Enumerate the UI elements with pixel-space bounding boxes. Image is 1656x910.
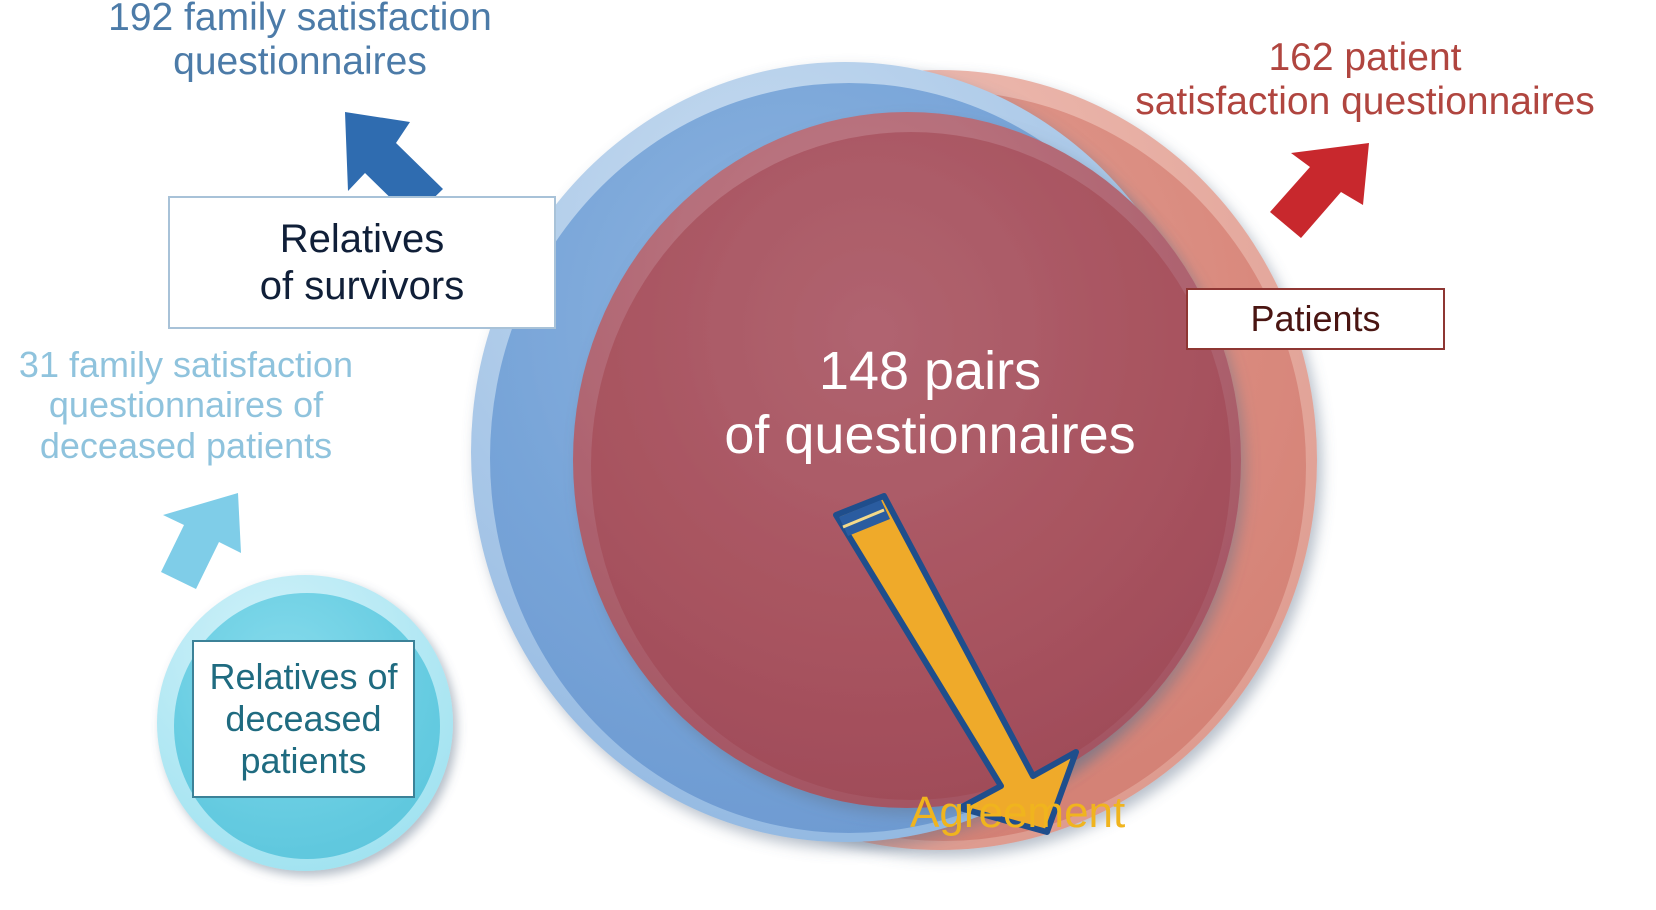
annotation-patient-162: 162 patient satisfaction questionnaires: [1070, 36, 1656, 123]
arrow-to-family-31-icon: [161, 493, 241, 589]
annotation-family-31: 31 family satisfaction questionnaires of…: [0, 345, 396, 466]
center-label-148-pairs: 148 pairs of questionnaires: [620, 340, 1240, 467]
label-box-relatives-of-survivors: Relatives of survivors: [168, 196, 556, 329]
arrow-to-patient-162-icon: [1270, 143, 1369, 238]
annotation-agreement: Agreement: [910, 788, 1380, 837]
annotation-family-192: 192 family satisfaction questionnaires: [40, 0, 560, 83]
label-box-relatives-of-deceased-patients: Relatives of deceased patients: [192, 640, 415, 798]
figure-canvas: 192 family satisfaction questionnaires 1…: [0, 0, 1656, 910]
